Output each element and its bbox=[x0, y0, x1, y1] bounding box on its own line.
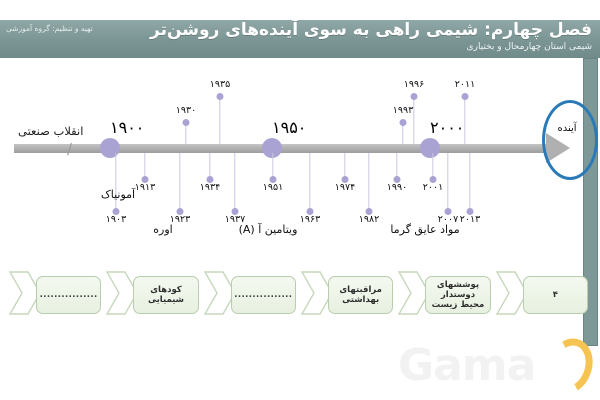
timeline-axis bbox=[14, 144, 554, 153]
node-dot bbox=[183, 119, 190, 126]
timeline-year: ۱۹۳۰ bbox=[176, 105, 196, 116]
timeline-caption: مواد عایق گرما bbox=[390, 223, 459, 236]
timeline-year: ۱۹۵۱ bbox=[263, 182, 283, 193]
timeline-year: ۱۹۹۶ bbox=[404, 79, 424, 90]
timeline-year: ۱۹۱۳ bbox=[135, 182, 155, 193]
process-step-label: ۴ bbox=[553, 290, 558, 300]
node-stem bbox=[309, 153, 310, 211]
node-stem bbox=[447, 153, 448, 211]
process-step[interactable]: کودهای شیمیایی bbox=[133, 276, 198, 314]
node-stem bbox=[179, 153, 180, 211]
timeline-year: ۱۹۰۳ bbox=[106, 214, 126, 225]
watermark-text: Gama bbox=[398, 340, 535, 391]
axis-break-icon bbox=[62, 137, 72, 161]
timeline-year: ۱۹۲۳ bbox=[170, 214, 190, 225]
timeline-year: ۲۰۱۳ bbox=[460, 214, 480, 225]
timeline-caption: اوره bbox=[153, 223, 172, 236]
timeline-year: ۱۹۰۰ bbox=[110, 118, 144, 137]
timeline-caption: آمونیاک bbox=[101, 188, 135, 201]
process-step[interactable]: مراقبتهای بهداشتی bbox=[328, 276, 393, 314]
node-stem bbox=[413, 96, 414, 144]
node-dot bbox=[411, 93, 418, 100]
timeline-year: ۱۹۵۰ bbox=[272, 118, 306, 137]
process-step-label: ................ bbox=[234, 290, 292, 300]
future-ellipse bbox=[542, 100, 598, 180]
node-dot bbox=[217, 93, 224, 100]
process-step[interactable]: پوششهای دوستدار محیط زیست bbox=[425, 276, 490, 314]
timeline-year: ۱۹۶۳ bbox=[300, 214, 320, 225]
milestone-dot bbox=[420, 138, 440, 158]
node-stem bbox=[219, 96, 220, 144]
process-step-label: پوششهای دوستدار محیط زیست bbox=[429, 280, 486, 310]
node-stem bbox=[234, 153, 235, 211]
future-label: آینده bbox=[542, 123, 592, 134]
node-stem bbox=[464, 96, 465, 144]
process-step-label: کودهای شیمیایی bbox=[137, 285, 194, 305]
timeline-caption: ویتامین آ (A) bbox=[239, 223, 298, 236]
timeline-year: ۱۹۹۰ bbox=[387, 182, 407, 193]
process-step-label: مراقبتهای بهداشتی bbox=[332, 285, 389, 305]
process-flow: ................کودهای شیمیایی..........… bbox=[8, 270, 592, 322]
header-credit-text: تهیه و تنظیم: گروه آموزشی bbox=[6, 24, 93, 34]
node-stem bbox=[115, 153, 116, 211]
node-dot bbox=[462, 93, 469, 100]
process-step[interactable]: ۴ bbox=[523, 276, 588, 314]
timeline-year: ۱۹۳۵ bbox=[210, 79, 230, 90]
process-step[interactable]: ................ bbox=[231, 276, 296, 314]
timeline-year: ۱۹۳۴ bbox=[200, 182, 220, 193]
watermark: Gama bbox=[398, 338, 588, 394]
node-stem bbox=[469, 153, 470, 211]
timeline-year: ۱۹۹۳ bbox=[393, 105, 413, 116]
page-title: فصل چهارم: شیمی راهی به سوی آینده‌های رو… bbox=[150, 20, 592, 41]
timeline-year: ۲۰۰۱ bbox=[423, 182, 443, 193]
timeline-year: ۱۹۸۲ bbox=[359, 214, 379, 225]
process-step-label: ................ bbox=[40, 290, 98, 300]
timeline-year: ۲۰۰۰ bbox=[430, 118, 464, 137]
timeline-year: ۱۹۷۴ bbox=[335, 182, 355, 193]
page-subtitle: شیمی استان چهارمحال و بختیاری bbox=[467, 41, 592, 53]
timeline-year: ۲۰۱۱ bbox=[455, 79, 475, 90]
slide-canvas: تهیه و تنظیم: گروه آموزشی فصل چهارم: شیم… bbox=[0, 0, 600, 400]
milestone-dot bbox=[100, 138, 120, 158]
node-dot bbox=[400, 119, 407, 126]
node-stem bbox=[368, 153, 369, 211]
process-step[interactable]: ................ bbox=[36, 276, 101, 314]
industrial-revolution-label: انقلاب صنعتی bbox=[18, 124, 83, 138]
